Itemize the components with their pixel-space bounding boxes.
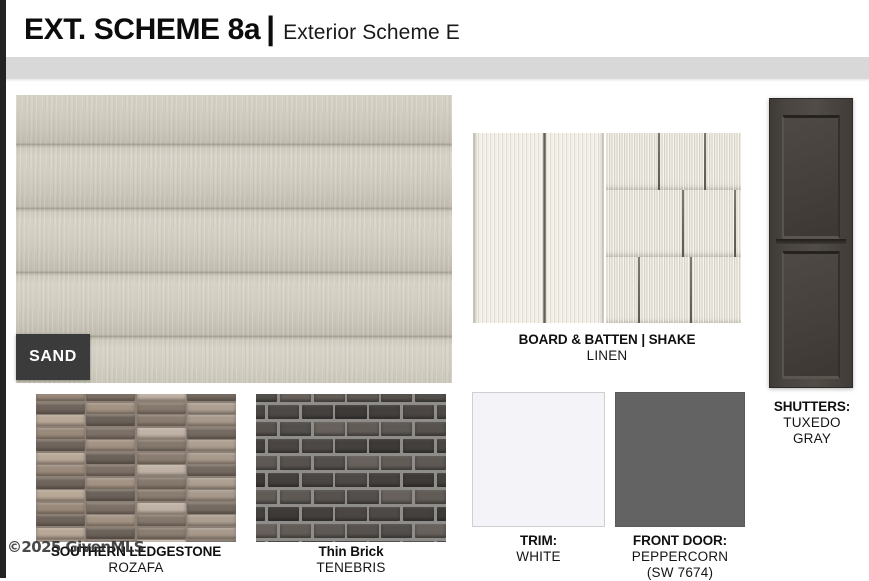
brick-unit [302, 507, 333, 521]
brick-unit [381, 456, 412, 470]
stone-course [36, 403, 236, 414]
brick-unit [314, 524, 345, 538]
brick-unit [415, 524, 446, 538]
stone-unit [187, 440, 236, 451]
brick-unit [268, 405, 299, 419]
trim-title: TRIM: [472, 533, 605, 549]
brick-unit [403, 507, 434, 521]
scheme-board-page: EXT. SCHEME 8a | Exterior Scheme E SAND [0, 0, 869, 578]
stone-unit [187, 403, 236, 414]
brick-unit [314, 490, 345, 504]
shake-seam [690, 257, 692, 323]
stone-color-name: ROZAFA [16, 560, 256, 576]
stone-unit [36, 515, 85, 526]
board-edge-shadow [599, 133, 604, 323]
brick-color-name: TENEBRIS [256, 560, 446, 576]
brick-unit [268, 507, 299, 521]
stone-course [36, 440, 236, 451]
shake-seam [658, 133, 660, 190]
brick-unit [280, 422, 311, 436]
band-shadow [6, 79, 869, 82]
bbs-title: BOARD & BATTEN | SHAKE [473, 332, 741, 348]
brick-unit [347, 422, 378, 436]
stone-unit [86, 440, 135, 451]
brick-unit [381, 490, 412, 504]
brick-course [256, 456, 446, 473]
brick-unit [437, 405, 446, 419]
brick-course [256, 490, 446, 507]
brick-course [256, 394, 446, 405]
brick-unit [369, 439, 400, 453]
door-color-name: PEPPERCORN [612, 549, 748, 565]
stone-unit [86, 515, 135, 526]
brick-unit [256, 439, 265, 453]
brick-unit [314, 422, 345, 436]
brick-unit [302, 473, 333, 487]
brick-unit [335, 507, 366, 521]
brick-unit [256, 394, 277, 402]
brick-unit [415, 490, 446, 504]
brick-unit [347, 490, 378, 504]
brick-unit [280, 524, 311, 538]
copyright-watermark: ©2025 GivenMLS [7, 538, 144, 556]
brick-unit [256, 507, 265, 521]
stone-course [36, 415, 236, 426]
brick-unit [256, 541, 265, 542]
trim-color-name: WHITE [472, 549, 605, 565]
brick-unit [256, 473, 265, 487]
stone-course [36, 490, 236, 501]
stone-unit [86, 428, 135, 439]
brick-unit [347, 394, 378, 402]
brick-unit [403, 541, 434, 542]
stone-unit [137, 415, 186, 426]
stone-unit [36, 528, 85, 539]
brick-course [256, 473, 446, 490]
brick-title: Thin Brick [256, 544, 446, 560]
brick-unit [335, 405, 366, 419]
swatch-thin-brick [256, 394, 446, 542]
swatch-trim-white [472, 392, 605, 527]
brick-unit [335, 439, 366, 453]
stone-unit [137, 515, 186, 526]
brick-course [256, 439, 446, 456]
brick-unit [381, 394, 412, 402]
brick-unit [415, 456, 446, 470]
stone-unit [187, 478, 236, 489]
stone-unit [36, 403, 85, 414]
brick-unit [302, 541, 333, 542]
brick-course [256, 507, 446, 524]
brick-unit [415, 422, 446, 436]
stone-unit [137, 503, 186, 514]
stone-unit [36, 440, 85, 451]
brick-unit [347, 456, 378, 470]
stone-unit [36, 453, 85, 464]
stone-course [36, 394, 236, 401]
brick-unit [335, 473, 366, 487]
stone-unit [137, 403, 186, 414]
shake-course [606, 190, 741, 259]
brick-unit [314, 456, 345, 470]
page-title: EXT. SCHEME 8a [24, 13, 260, 47]
stone-unit [137, 465, 186, 476]
stone-unit [137, 540, 186, 542]
stone-unit [36, 394, 85, 401]
door-title: FRONT DOOR: [612, 533, 748, 549]
brick-unit [280, 456, 311, 470]
board-grain-overlay [473, 133, 604, 323]
caption-board-batten-shake: BOARD & BATTEN | SHAKE LINEN [473, 332, 741, 364]
stone-unit [187, 528, 236, 539]
stone-unit [86, 503, 135, 514]
shutters-title: SHUTTERS: [755, 399, 869, 415]
stone-unit [86, 394, 135, 401]
stone-unit [137, 490, 186, 501]
brick-unit [437, 473, 446, 487]
swatch-shutter [769, 98, 853, 388]
brick-unit [268, 473, 299, 487]
swatch-stone-ledgestone [36, 394, 236, 542]
brick-course [256, 405, 446, 422]
brick-unit [403, 405, 434, 419]
stone-course [36, 465, 236, 476]
caption-front-door: FRONT DOOR: PEPPERCORN (SW 7674) [612, 533, 748, 581]
stone-course [36, 478, 236, 489]
shake-course [606, 257, 741, 323]
brick-unit [437, 439, 446, 453]
shutter-mid-rail [776, 239, 846, 244]
brick-unit [369, 541, 400, 542]
stone-unit [187, 428, 236, 439]
brick-unit [302, 439, 333, 453]
stone-unit [36, 428, 85, 439]
brick-course [256, 524, 446, 541]
page-subtitle: Exterior Scheme E [283, 21, 460, 45]
stone-unit [86, 478, 135, 489]
shake-panel [606, 133, 741, 323]
door-color-code: (SW 7674) [612, 565, 748, 581]
stone-unit [187, 490, 236, 501]
stone-unit [137, 440, 186, 451]
swatch-board-batten-shake [473, 133, 741, 323]
title-separator: | [266, 10, 275, 47]
stone-unit [36, 503, 85, 514]
stone-unit [86, 528, 135, 539]
stone-course [36, 428, 236, 439]
brick-unit [437, 541, 446, 542]
brick-unit [256, 422, 277, 436]
left-edge-strip [0, 0, 6, 578]
stone-unit [187, 465, 236, 476]
brick-unit [256, 490, 277, 504]
stone-unit [36, 465, 85, 476]
brick-unit [403, 473, 434, 487]
stone-unit [187, 453, 236, 464]
brick-unit [437, 507, 446, 521]
stone-unit [36, 490, 85, 501]
caption-brick: Thin Brick TENEBRIS [256, 544, 446, 576]
shake-seam [734, 190, 736, 257]
stone-unit [187, 415, 236, 426]
brick-unit [369, 473, 400, 487]
stone-course [36, 503, 236, 514]
header-inner: EXT. SCHEME 8a | Exterior Scheme E [6, 10, 460, 47]
brick-unit [314, 394, 345, 402]
brick-unit [369, 507, 400, 521]
brick-unit [381, 524, 412, 538]
stone-unit [137, 453, 186, 464]
stone-unit [187, 394, 236, 401]
header-divider-band [6, 57, 869, 79]
shake-course [606, 133, 741, 192]
brick-unit [280, 394, 311, 402]
stone-unit [137, 478, 186, 489]
brick-unit [335, 541, 366, 542]
batten-strip [543, 133, 546, 323]
brick-course [256, 541, 446, 542]
stone-unit [86, 403, 135, 414]
sand-color-badge: SAND [16, 334, 90, 380]
stone-unit [86, 490, 135, 501]
shake-seam [638, 257, 640, 323]
stone-unit [137, 428, 186, 439]
stone-unit [86, 453, 135, 464]
caption-trim: TRIM: WHITE [472, 533, 605, 565]
stone-unit [137, 528, 186, 539]
stone-unit [187, 540, 236, 542]
stone-unit [187, 503, 236, 514]
brick-unit [403, 439, 434, 453]
stone-unit [36, 478, 85, 489]
board-and-batten-panel [473, 133, 604, 323]
board-edge-shadow [473, 133, 478, 323]
stone-unit [86, 465, 135, 476]
brick-course [256, 422, 446, 439]
brick-unit [268, 541, 299, 542]
brick-unit [268, 439, 299, 453]
brick-unit [381, 422, 412, 436]
page-header: EXT. SCHEME 8a | Exterior Scheme E [6, 0, 869, 57]
shake-seam [704, 133, 706, 190]
brick-unit [256, 456, 277, 470]
brick-unit [369, 405, 400, 419]
stone-course [36, 515, 236, 526]
caption-shutters: SHUTTERS: TUXEDO GRAY [755, 399, 869, 447]
shutters-color-line1: TUXEDO [755, 415, 869, 431]
sand-badge-label: SAND [29, 348, 77, 366]
stone-course [36, 528, 236, 539]
brick-unit [302, 405, 333, 419]
brick-unit [280, 490, 311, 504]
stone-unit [137, 394, 186, 401]
swatch-front-door-peppercorn [615, 392, 745, 527]
shutters-color-line2: GRAY [755, 431, 869, 447]
brick-unit [347, 524, 378, 538]
shake-seam [682, 190, 684, 257]
brick-unit [415, 394, 446, 402]
shutter-panel-upper [782, 115, 840, 239]
stone-unit [36, 415, 85, 426]
stone-course [36, 453, 236, 464]
bbs-color-name: LINEN [473, 348, 741, 364]
stone-unit [187, 515, 236, 526]
brick-unit [256, 524, 277, 538]
stone-unit [86, 415, 135, 426]
brick-unit [256, 405, 265, 419]
shutter-panel-lower [782, 251, 840, 379]
